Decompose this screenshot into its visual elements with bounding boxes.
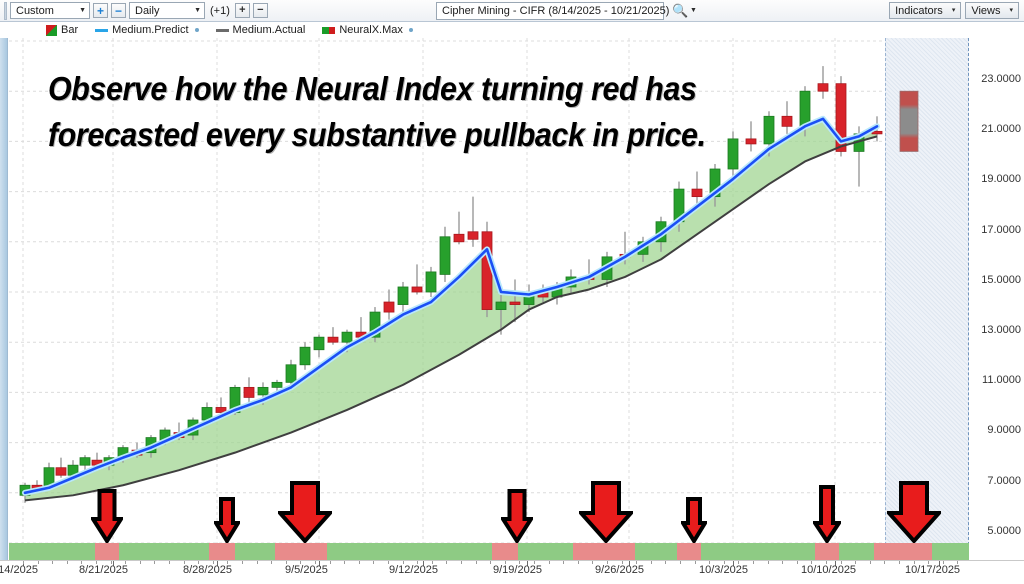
y-axis-tick-label: 13.0000 (981, 324, 1021, 336)
line-swatch-icon (216, 29, 229, 32)
down-arrow-icon (501, 489, 533, 548)
x-axis-minor-tick (797, 561, 798, 564)
x-axis-minor-tick (344, 561, 345, 564)
symbol-search-input[interactable]: Cipher Mining - CIFR (8/14/2025 - 10/21/… (436, 2, 664, 20)
x-axis-minor-tick (154, 561, 155, 564)
down-arrow-icon (214, 497, 240, 548)
legend-item-bar[interactable]: Bar (46, 24, 78, 36)
x-axis-minor-tick (695, 561, 696, 564)
bar-swatch-icon (46, 25, 57, 36)
annotation-text: Observe how the Neural Index turning red… (48, 66, 747, 157)
x-axis-tick-label: 10/3/2025 (699, 564, 748, 576)
x-axis-tick-label: 10/10/2025 (801, 564, 856, 576)
zoom-in-button[interactable]: + (93, 3, 108, 18)
interval-select[interactable]: Daily ▼ (129, 2, 205, 19)
x-axis-minor-tick (140, 561, 141, 564)
legend-label: NeuralX.Max (339, 24, 403, 36)
legend-dot-icon (195, 28, 199, 32)
x-axis-minor-tick (67, 561, 68, 564)
main-toolbar: Custom ▼ + − Daily ▼ (+1) + − Cipher Min… (0, 0, 1024, 22)
interval-select-value: Daily (135, 5, 159, 17)
x-axis-minor-tick (169, 561, 170, 564)
indicators-button-label: Indicators (895, 5, 943, 17)
x-axis-minor-tick (768, 561, 769, 564)
y-axis-tick-label: 5.0000 (987, 525, 1021, 537)
search-chevron-down-icon[interactable]: ▼ (690, 7, 697, 14)
x-axis-minor-tick (549, 561, 550, 564)
y-axis-tick-label: 9.0000 (987, 424, 1021, 436)
down-arrow-icon (887, 481, 941, 548)
x-axis-minor-tick (578, 561, 579, 564)
x-axis-minor-tick (592, 561, 593, 564)
down-arrow-icon (813, 485, 841, 548)
x-axis-minor-tick (476, 561, 477, 564)
x-axis-tick-label: 9/12/2025 (389, 564, 438, 576)
down-arrow-icon (681, 497, 707, 548)
x-axis-minor-tick (563, 561, 564, 564)
x-axis-minor-tick (680, 561, 681, 564)
vertical-scrollbar[interactable] (0, 38, 8, 560)
x-axis-minor-tick (257, 561, 258, 564)
x-axis-minor-tick (651, 561, 652, 564)
legend-label: Medium.Predict (112, 24, 188, 36)
x-axis-minor-tick (461, 561, 462, 564)
x-axis-tick-label: 8/28/2025 (183, 564, 232, 576)
symbol-title: Cipher Mining - CIFR (8/14/2025 - 10/21/… (442, 5, 669, 17)
chart-legend: Bar Medium.Predict Medium.Actual NeuralX… (0, 22, 1024, 38)
x-axis-minor-tick (490, 561, 491, 564)
x-axis-minor-tick (665, 561, 666, 564)
toolbar-grip (4, 2, 7, 20)
y-axis-tick-label: 21.0000 (981, 123, 1021, 135)
y-axis: 23.000021.000019.000017.000015.000013.00… (969, 38, 1024, 560)
legend-item-medium-actual[interactable]: Medium.Actual (216, 24, 306, 36)
x-axis-minor-tick (446, 561, 447, 564)
search-icon[interactable]: 🔍 (672, 3, 688, 19)
indicators-button[interactable]: Indicators ▾ (889, 2, 961, 19)
down-arrow-icon (278, 481, 332, 548)
y-axis-tick-label: 15.0000 (981, 274, 1021, 286)
x-axis-minor-tick (753, 561, 754, 564)
zoom-out-button[interactable]: − (111, 3, 126, 18)
legend-item-neuralx-max[interactable]: NeuralX.Max (322, 24, 413, 36)
down-arrow-icon (91, 489, 123, 548)
x-axis-tick-label: 9/5/2025 (285, 564, 328, 576)
legend-label: Medium.Actual (233, 24, 306, 36)
views-button[interactable]: Views ▾ (965, 2, 1019, 19)
x-axis-tick-label: 8/21/2025 (79, 564, 128, 576)
x-axis-minor-tick (899, 561, 900, 564)
chevron-down-icon: ▼ (194, 7, 201, 14)
views-button-label: Views (971, 5, 1000, 17)
x-axis-minor-tick (373, 561, 374, 564)
x-axis-minor-tick (359, 561, 360, 564)
chart-application-window: Custom ▼ + − Daily ▼ (+1) + − Cipher Min… (0, 0, 1024, 584)
range-select[interactable]: Custom ▼ (10, 2, 90, 19)
chevron-down-icon: ▾ (1009, 7, 1013, 14)
x-axis-tick-label: 8/14/2025 (0, 564, 38, 576)
y-axis-tick-label: 19.0000 (981, 173, 1021, 185)
x-axis-minor-tick (330, 561, 331, 564)
chevron-down-icon: ▾ (952, 7, 956, 14)
y-axis-tick-label: 17.0000 (981, 224, 1021, 236)
x-axis-minor-tick (242, 561, 243, 564)
legend-label: Bar (61, 24, 78, 36)
x-axis-minor-tick (870, 561, 871, 564)
legend-item-medium-predict[interactable]: Medium.Predict (95, 24, 198, 36)
range-select-value: Custom (16, 5, 54, 17)
x-axis-tick-label: 10/17/2025 (905, 564, 960, 576)
x-axis: 8/14/20258/21/20258/28/20259/5/20259/12/… (0, 560, 1024, 584)
line-swatch-icon (95, 29, 108, 32)
neuralx-swatch-icon (322, 27, 335, 34)
legend-dot-icon (409, 28, 413, 32)
offset-decrease-button[interactable]: − (253, 3, 268, 18)
offset-increase-button[interactable]: + (235, 3, 250, 18)
x-axis-tick-label: 9/26/2025 (595, 564, 644, 576)
x-axis-minor-tick (52, 561, 53, 564)
chevron-down-icon: ▼ (79, 7, 86, 14)
toolbar-right-group: Indicators ▾ Views ▾ (889, 2, 1019, 19)
y-axis-tick-label: 11.0000 (982, 374, 1021, 386)
y-axis-tick-label: 7.0000 (987, 475, 1021, 487)
x-axis-minor-tick (782, 561, 783, 564)
x-axis-tick-label: 9/19/2025 (493, 564, 542, 576)
down-arrow-icon (579, 481, 633, 548)
x-axis-minor-tick (884, 561, 885, 564)
offset-label: (+1) (210, 5, 230, 17)
x-axis-minor-tick (271, 561, 272, 564)
y-axis-tick-label: 23.0000 (981, 73, 1021, 85)
